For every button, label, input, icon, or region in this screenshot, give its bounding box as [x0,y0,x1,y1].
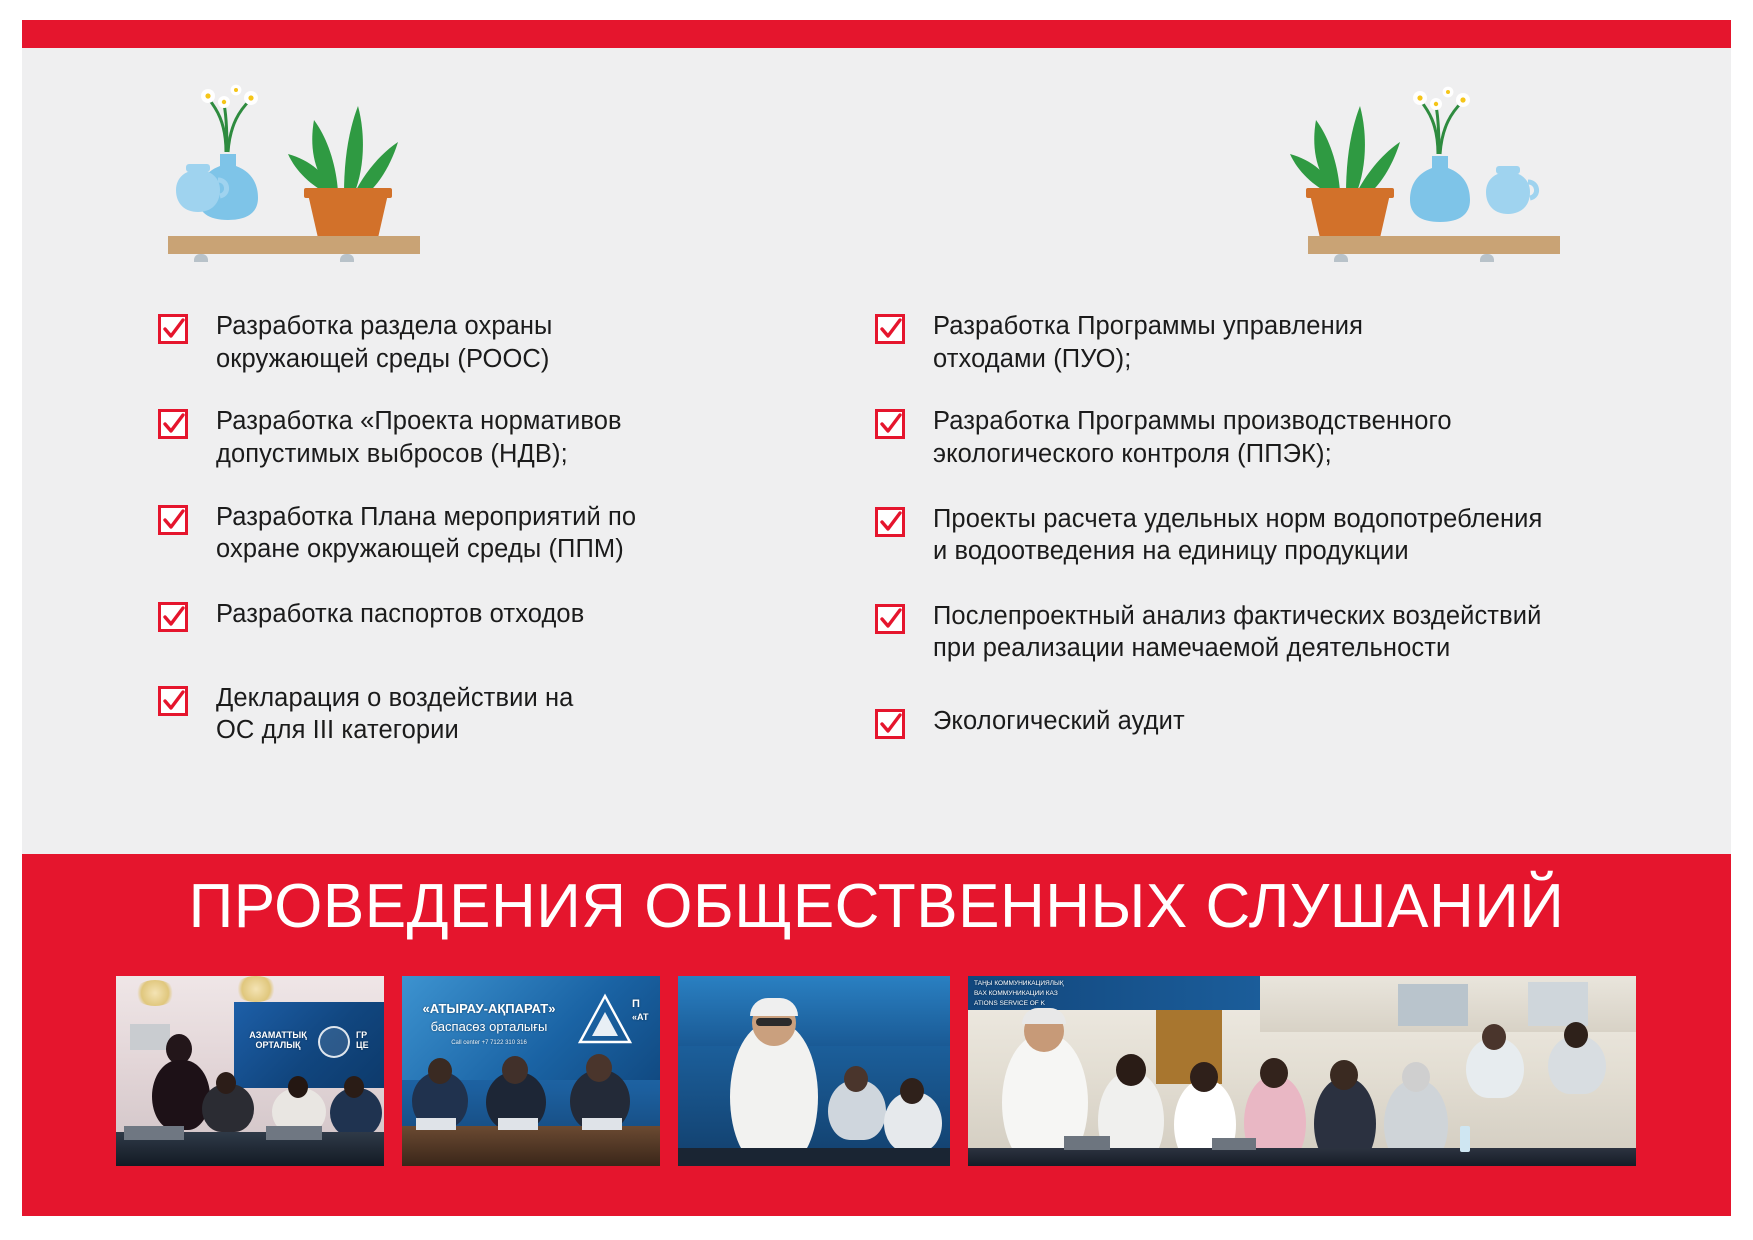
photo-banner: ТАҢЫ КОММУНИКАЦИЯЛЫҚ ВАХ КОММУНИКАЦИИ КА… [968,976,1260,1010]
shelf-board [1308,236,1560,254]
photo-public-hearing-audience[interactable]: ТАҢЫ КОММУНИКАЦИЯЛЫҚ ВАХ КОММУНИКАЦИИ КА… [968,976,1636,1166]
person-head [288,1076,308,1098]
flower-sprig-icon [201,85,258,152]
checkbox-checked-icon[interactable] [158,602,188,632]
person-standing [152,1060,210,1130]
checklist-item-label: Послепроектный анализ фактических воздей… [933,600,1541,665]
banner-line: АЗАМАТТЫҚ [249,1030,307,1040]
panel-desk [402,1126,660,1166]
photo-speaker-at-microphone[interactable] [678,976,950,1166]
person-head [1190,1062,1218,1092]
person-head [1330,1060,1358,1090]
jug-icon [1486,166,1537,214]
shelf-with-plants-right [1290,62,1560,262]
shelf-with-plants-left [168,62,438,262]
wall-unit [130,1024,170,1050]
checkbox-checked-icon[interactable] [158,409,188,439]
banner-line: ГР [356,1030,367,1040]
person-head [1260,1058,1288,1088]
person-head [1482,1024,1506,1050]
checklist-item[interactable]: Разработка «Проекта нормативов допустимы… [158,405,798,470]
banner-line: ЦЕ [356,1040,369,1050]
eyeglasses-icon [756,1018,792,1026]
banner-line: «АТ [632,1012,649,1022]
laptop [124,1126,184,1140]
potted-plant-icon [288,106,398,238]
banner-line: ТАҢЫ КОММУНИКАЦИЯЛЫҚ [974,980,1064,987]
banner-line: баспасөз орталығы [431,1019,548,1034]
photo-strip: АЗАМАТТЫҚ ОРТАЛЫҚ ГР ЦЕ [116,976,1636,1166]
photo-press-center-panel[interactable]: «АТЫРАУ-АҚПАРАТ» баспасөз орталығы Call … [402,976,660,1166]
water-bottle [1460,1126,1470,1152]
checklist-item[interactable]: Разработка Программы управления отходами… [875,310,1595,375]
checklist-item-label: Проекты расчета удельных норм водопотреб… [933,503,1542,568]
shelf-bracket [1334,254,1494,262]
photo-banner-text: ГР ЦЕ [356,1030,382,1051]
banner-line: П [632,998,640,1010]
chandelier-icon [234,976,278,1002]
photo-meeting-civic-center[interactable]: АЗАМАТТЫҚ ОРТАЛЫҚ ГР ЦЕ [116,976,384,1166]
projection-screen [678,976,950,1046]
checklist-item-label: Разработка раздела охраны окружающей сре… [216,310,553,375]
checklist-item[interactable]: Разработка Программы производственного э… [875,405,1595,470]
person-head [216,1072,236,1094]
checkbox-checked-icon[interactable] [158,314,188,344]
flower-sprig-icon [1413,87,1470,154]
checkbox-checked-icon[interactable] [875,314,905,344]
laptop [1064,1136,1110,1150]
name-plate [416,1118,456,1130]
photo-banner-text: АЗАМАТТЫҚ ОРТАЛЫҚ [242,1030,314,1051]
footer-title: ПРОВЕДЕНИЯ ОБЩЕСТВЕННЫХ СЛУШАНИЙ [22,876,1731,938]
person-head [900,1078,924,1104]
checklist-item[interactable]: Разработка Плана мероприятий по охране о… [158,501,798,566]
emblem-icon [318,1026,350,1058]
checkbox-checked-icon[interactable] [875,604,905,634]
table-edge [678,1148,950,1166]
photo-banner-text: ТАҢЫ КОММУНИКАЦИЯЛЫҚ ВАХ КОММУНИКАЦИИ КА… [974,979,1254,1008]
potted-plant-icon [1290,106,1400,238]
audience-desk [968,1148,1636,1166]
checklist-item-label: Разработка Плана мероприятий по охране о… [216,501,636,566]
laptop [1212,1138,1256,1150]
banner-line: ВАХ КОММУНИКАЦИИ КАЗ [974,990,1058,997]
checklist-item[interactable]: Проекты расчета удельных норм водопотреб… [875,503,1595,568]
person-head [428,1058,452,1084]
banner-line: «АТЫРАУ-АҚПАРАТ» [423,1001,556,1016]
person-head [844,1066,868,1092]
wall-panel [1528,982,1588,1026]
checklist-item[interactable]: Послепроектный анализ фактических воздей… [875,600,1595,665]
checkbox-checked-icon[interactable] [158,686,188,716]
person-hair [750,998,798,1016]
banner-line: ATIONS SERVICE OF K [974,1000,1045,1007]
checkbox-checked-icon[interactable] [875,409,905,439]
logo-triangle-icon [578,992,632,1050]
laptop [266,1126,322,1140]
person-hair [1022,1008,1066,1024]
chandelier-icon [134,980,176,1006]
banner-line: ОРТАЛЫҚ [255,1040,300,1050]
shelf-board [168,236,420,254]
person-head [1116,1054,1146,1086]
photo-banner-text: «АТЫРАУ-АҚПАРАТ» [414,1002,564,1017]
photo-banner: АЗАМАТТЫҚ ОРТАЛЫҚ ГР ЦЕ [234,1002,384,1088]
checklist-item-label: Разработка Программы управления отходами… [933,310,1363,375]
photo-banner-text: баспасөз орталығы [414,1020,564,1035]
checklist-item-label: Экологический аудит [933,705,1185,738]
slide-root: Разработка раздела охраны окружающей сре… [0,0,1753,1240]
checklist-item[interactable]: Декларация о воздействии на ОС для III к… [158,682,798,747]
shelf-bracket [194,254,354,262]
checklist-item[interactable]: Разработка раздела охраны окружающей сре… [158,310,798,375]
checklist-item[interactable]: Экологический аудит [875,705,1595,739]
air-conditioner [1398,984,1468,1026]
checkbox-checked-icon[interactable] [158,505,188,535]
photo-banner-text: П «АТ [632,998,656,1023]
person-head [1402,1062,1430,1092]
photo-banner-text: Call center +7 7122 310 316 [414,1040,564,1047]
person-head [1564,1022,1588,1048]
checkbox-checked-icon[interactable] [875,709,905,739]
checklist-left-column: Разработка раздела охраны окружающей сре… [158,310,798,747]
checklist-item-label: Декларация о воздействии на ОС для III к… [216,682,573,747]
person-head [586,1054,612,1082]
banner-line: Call center +7 7122 310 316 [451,1040,527,1046]
name-plate [498,1118,538,1130]
checklist-right-column: Разработка Программы управления отходами… [875,310,1595,739]
checklist-item-label: Разработка Программы производственного э… [933,405,1452,470]
checklist-item[interactable]: Разработка паспортов отходов [158,598,798,632]
person-head [344,1076,364,1098]
vase-icon [1410,156,1470,222]
checklist-item-label: Разработка паспортов отходов [216,598,584,631]
name-plate [582,1118,622,1130]
checklist-item-label: Разработка «Проекта нормативов допустимы… [216,405,622,470]
top-accent-bar [22,20,1731,48]
checkbox-checked-icon[interactable] [875,507,905,537]
person-head [502,1056,528,1084]
